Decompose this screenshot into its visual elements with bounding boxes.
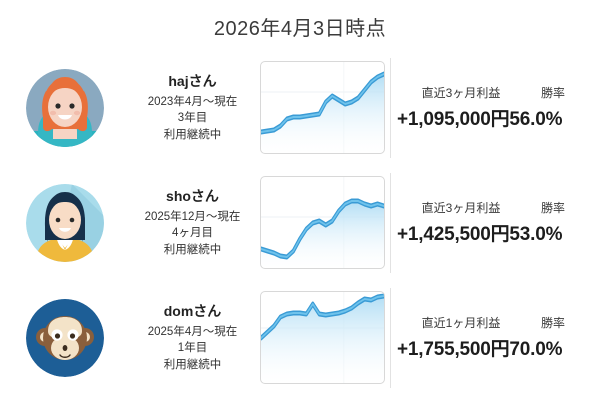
balance-sparkline-chart [260,176,385,269]
user-status: 利用継続中 [130,127,255,144]
balance-sparkline-chart [260,291,385,384]
user-name: domさん [130,301,255,321]
user-tenure: 4ヶ月目 [130,225,255,242]
stats-values: +1,425,500円 53.0% [397,219,600,246]
stats-values: +1,755,500円 70.0% [397,334,600,361]
user-row: domさん 2025年4月〜現在 1年目 利用継続中 [0,280,600,395]
user-tenure: 1年目 [130,340,255,357]
stats-cell: 直近3ヶ月利益 勝率 +1,425,500円 53.0% [390,173,600,273]
user-name: hajさん [130,71,255,91]
chart-cell [255,291,390,384]
profit-value: +1,755,500円 [397,334,509,361]
profit-label: 直近1ヶ月利益 [405,314,517,331]
user-tenure: 3年目 [130,110,255,127]
stats-headers: 直近3ヶ月利益 勝率 [397,84,600,101]
avatar-monkey-icon [26,299,104,377]
user-row: shoさん 2025年12月〜現在 4ヶ月目 利用継続中 [0,165,600,280]
stats-values: +1,095,000円 56.0% [397,104,600,131]
win-rate-value: 56.0% [509,109,562,131]
stats-headers: 直近1ヶ月利益 勝率 [397,314,600,331]
avatar-cell [0,184,130,262]
profit-value: +1,095,000円 [397,104,509,131]
profit-label: 直近3ヶ月利益 [405,84,517,101]
stats-headers: 直近3ヶ月利益 勝率 [397,199,600,216]
win-rate-label: 勝率 [517,84,589,101]
page-title: 2026年4月3日時点 [0,12,600,41]
balance-sparkline-chart [260,61,385,154]
identity-block: shoさん 2025年12月〜現在 4ヶ月目 利用継続中 [130,186,255,258]
profit-label: 直近3ヶ月利益 [405,199,517,216]
win-rate-value: 70.0% [509,339,562,361]
user-status: 利用継続中 [130,357,255,374]
stats-cell: 直近3ヶ月利益 勝率 +1,095,000円 56.0% [390,58,600,158]
user-status: 利用継続中 [130,242,255,259]
stats-cell: 直近1ヶ月利益 勝率 +1,755,500円 70.0% [390,288,600,388]
avatar-woman-black-hair-icon [26,184,104,262]
chart-cell [255,61,390,154]
user-period: 2025年12月〜現在 [130,209,255,226]
avatar-woman-orange-hair-icon [26,69,104,147]
identity-block: hajさん 2023年4月〜現在 3年目 利用継続中 [130,71,255,143]
comparison-page: 2026年4月3日時点 [0,0,600,400]
identity-block: domさん 2025年4月〜現在 1年目 利用継続中 [130,301,255,373]
user-name: shoさん [130,186,255,206]
profit-value: +1,425,500円 [397,219,509,246]
win-rate-label: 勝率 [517,199,589,216]
avatar-cell [0,69,130,147]
user-period: 2023年4月〜現在 [130,94,255,111]
chart-cell [255,176,390,269]
avatar-cell [0,299,130,377]
user-period: 2025年4月〜現在 [130,324,255,341]
win-rate-label: 勝率 [517,314,589,331]
user-row: hajさん 2023年4月〜現在 3年目 利用継続中 [0,50,600,165]
win-rate-value: 53.0% [509,224,562,246]
